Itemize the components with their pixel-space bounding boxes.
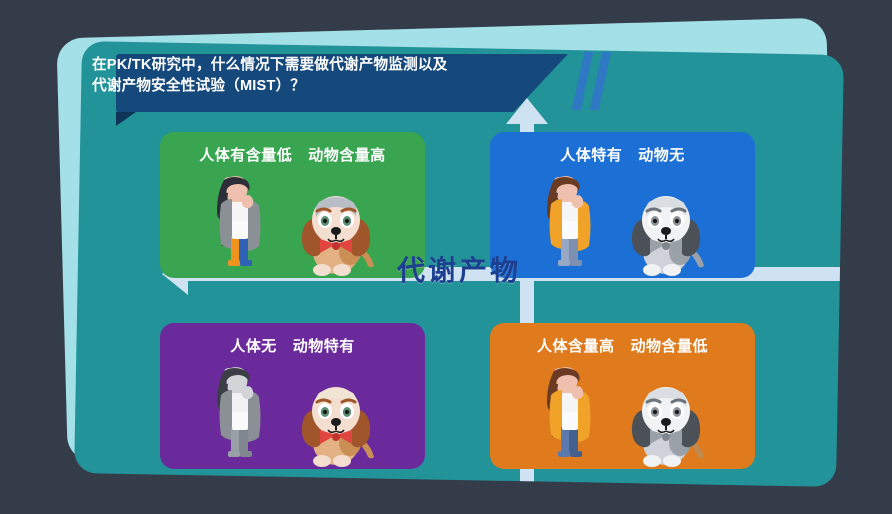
pants-right bbox=[569, 427, 578, 453]
quadrant-bottom-left[interactable]: 人体无 动物特有 bbox=[160, 323, 425, 469]
pants-left bbox=[231, 427, 239, 453]
quadrant-bottom-right[interactable]: 人体含量高 动物含量低 bbox=[490, 323, 755, 469]
quadrant-bottom-right-illustration bbox=[490, 363, 755, 469]
coat-left bbox=[549, 199, 562, 249]
banner-slash-decoration-1 bbox=[572, 52, 593, 110]
pants-right bbox=[239, 427, 248, 453]
quadrant-top-left-labels: 人体有含量低 动物含量高 bbox=[160, 144, 425, 165]
main-teal-card: 在PK/TK研究中，什么情况下需要做代谢产物监测以及 代谢产物安全性试验（MIS… bbox=[74, 41, 844, 487]
quadrant-bottom-left-illustration bbox=[160, 363, 425, 469]
dog-figure-icon bbox=[286, 373, 386, 469]
quadrant-top-right-animal-label: 动物无 bbox=[638, 144, 685, 165]
infographic-stage: 在PK/TK研究中，什么情况下需要做代谢产物监测以及 代谢产物安全性试验（MIS… bbox=[0, 0, 892, 514]
banner-slash-decoration-2 bbox=[590, 52, 611, 110]
quadrant-bottom-left-human-label: 人体无 bbox=[230, 335, 277, 356]
title-banner-tail bbox=[116, 112, 136, 126]
page-title: 在PK/TK研究中，什么情况下需要做代谢产物监测以及 代谢产物安全性试验（MIS… bbox=[92, 55, 502, 97]
quadrant-bottom-right-animal-label: 动物含量低 bbox=[631, 335, 709, 356]
quadrant-bottom-left-animal-label: 动物特有 bbox=[293, 335, 355, 356]
main-card-content: 在PK/TK研究中，什么情况下需要做代谢产物监测以及 代谢产物安全性试验（MIS… bbox=[78, 48, 840, 480]
coat-left bbox=[219, 390, 232, 440]
quadrant-bottom-left-labels: 人体无 动物特有 bbox=[160, 335, 425, 356]
quadrant-top-right-labels: 人体特有 动物无 bbox=[490, 144, 755, 165]
arrow-down-icon bbox=[506, 486, 548, 487]
dog-figure-icon bbox=[616, 373, 716, 469]
woman-figure-icon bbox=[530, 367, 608, 469]
quadrant-top-left-human-label: 人体有含量低 bbox=[199, 144, 292, 165]
coat-left bbox=[219, 199, 232, 249]
quadrant-bottom-right-human-label: 人体含量高 bbox=[537, 335, 615, 356]
quadrant-top-right-human-label: 人体特有 bbox=[560, 144, 622, 165]
quadrant-top-left-animal-label: 动物含量高 bbox=[308, 144, 386, 165]
arrow-up-icon bbox=[506, 98, 548, 124]
pants-left bbox=[561, 427, 569, 453]
quadrant-bottom-right-labels: 人体含量高 动物含量低 bbox=[490, 335, 755, 356]
coat-left bbox=[549, 390, 562, 440]
woman-figure-icon bbox=[200, 367, 278, 469]
axis-center-label: 代谢产物 bbox=[78, 249, 840, 289]
